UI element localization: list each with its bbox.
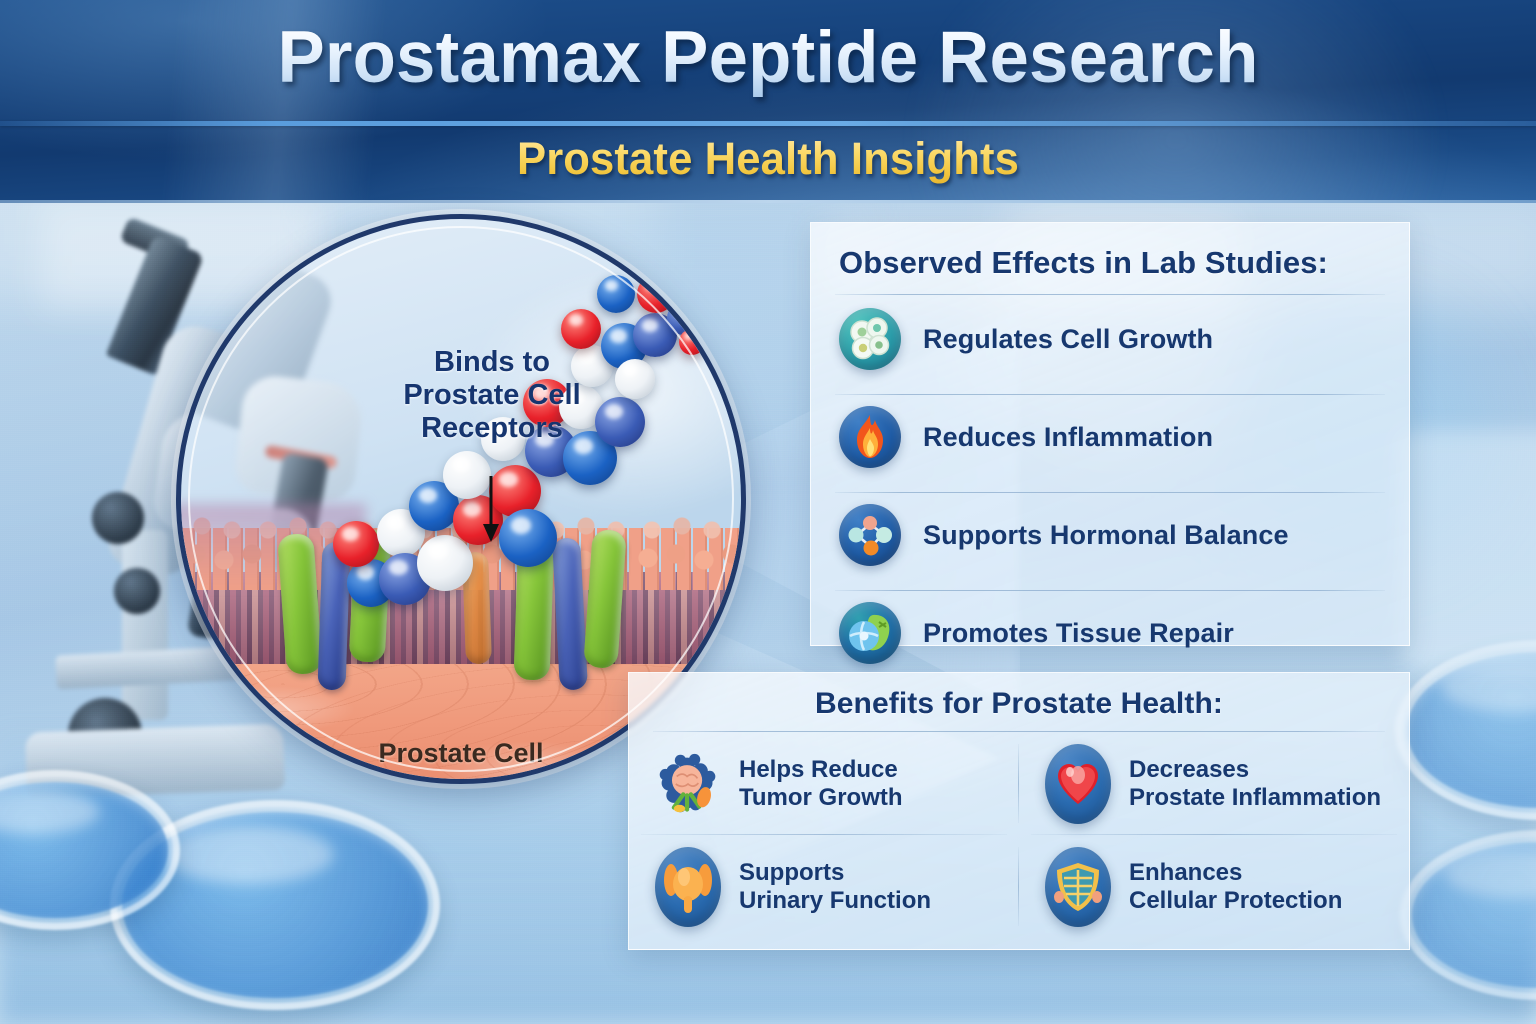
effects-panel-title: Observed Effects in Lab Studies: <box>839 245 1409 281</box>
page-title: Prostamax Peptide Research <box>23 16 1513 99</box>
list-item[interactable]: Supports Urinary Function <box>629 835 1019 938</box>
effects-list: Regulates Cell Growth Reduces Inflammati… <box>811 297 1409 675</box>
page-subtitle: Prostate Health Insights <box>23 133 1513 185</box>
molecule-icon <box>839 504 901 566</box>
list-item-label: Helps Reduce Tumor Growth <box>739 756 903 812</box>
benefits-panel: Benefits for Prostate Health: <box>628 672 1410 950</box>
heart-icon <box>1045 744 1111 824</box>
list-item[interactable]: Promotes Tissue Repair <box>811 591 1409 675</box>
list-item[interactable]: Decreases Prostate Inflammation <box>1019 732 1409 835</box>
observed-effects-panel: Observed Effects in Lab Studies: <box>810 222 1410 646</box>
prostate-cell-label: Prostate Cell <box>181 738 741 769</box>
benefits-panel-title: Benefits for Prostate Health: <box>629 687 1409 721</box>
down-arrow-icon <box>479 476 503 549</box>
shield-icon <box>1045 847 1111 927</box>
header-divider <box>0 121 1536 126</box>
list-item[interactable]: Regulates Cell Growth <box>811 297 1409 381</box>
infographic-canvas: Prostamax Peptide Research Prostate Heal… <box>0 0 1536 1024</box>
header-banner: Prostamax Peptide Research Prostate Heal… <box>0 0 1536 203</box>
list-item-label: Reduces Inflammation <box>923 422 1213 453</box>
header-bottom-line <box>0 200 1536 203</box>
cell-repair-icon <box>839 602 901 664</box>
flame-icon <box>839 406 901 468</box>
list-item[interactable]: Reduces Inflammation <box>811 395 1409 479</box>
list-item-label: Enhances Cellular Protection <box>1129 859 1342 915</box>
benefits-grid: Helps Reduce Tumor Growth Decreases Pros… <box>629 732 1409 938</box>
list-item-label: Decreases Prostate Inflammation <box>1129 756 1381 812</box>
list-item[interactable]: Enhances Cellular Protection <box>1019 835 1409 938</box>
cells-icon <box>839 308 901 370</box>
list-item-label: Supports Hormonal Balance <box>923 520 1289 551</box>
list-item-label: Supports Urinary Function <box>739 859 931 915</box>
list-item-label: Regulates Cell Growth <box>923 324 1213 355</box>
list-item[interactable]: Supports Hormonal Balance <box>811 493 1409 577</box>
title-rule <box>835 294 1385 295</box>
binds-callout-label: Binds to Prostate Cell Receptors <box>397 346 587 444</box>
list-item-label: Promotes Tissue Repair <box>923 618 1234 649</box>
prostate-organ-icon <box>655 847 721 927</box>
